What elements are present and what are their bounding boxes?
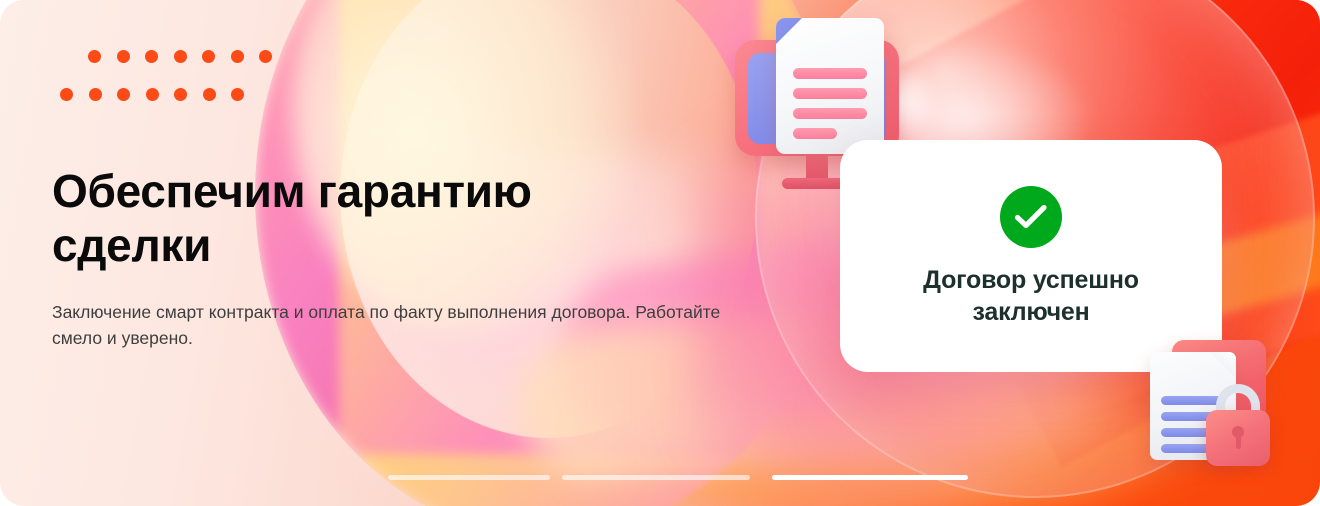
lock-keyhole-stem-icon bbox=[1236, 434, 1241, 449]
carousel-indicator-1[interactable] bbox=[388, 475, 550, 480]
decorative-dot bbox=[117, 50, 130, 63]
decorative-dot bbox=[203, 88, 216, 101]
decorative-dot bbox=[146, 88, 159, 101]
document-text-line bbox=[793, 68, 867, 79]
decorative-dot bbox=[145, 50, 158, 63]
decorative-dot bbox=[174, 88, 187, 101]
locked-document-illustration bbox=[1140, 334, 1280, 474]
promo-banner[interactable]: Обеспечим гарантию сделки Заключение сма… bbox=[0, 0, 1320, 506]
carousel-indicators[interactable] bbox=[388, 475, 948, 481]
document-text-line bbox=[793, 128, 837, 139]
check-circle-icon bbox=[1000, 186, 1062, 248]
decorative-dot bbox=[231, 50, 244, 63]
decorative-dot bbox=[88, 50, 101, 63]
banner-copy: Обеспечим гарантию сделки Заключение сма… bbox=[52, 165, 742, 351]
document-text-line bbox=[793, 108, 867, 119]
decorative-dot-grid bbox=[52, 50, 302, 106]
decorative-dot bbox=[60, 88, 73, 101]
banner-subtitle: Заключение смарт контракта и оплата по ф… bbox=[52, 299, 724, 352]
status-badge: Договор успешно заключен bbox=[862, 264, 1200, 328]
decorative-dot bbox=[117, 88, 130, 101]
carousel-indicator-2[interactable] bbox=[562, 475, 750, 480]
decorative-dot bbox=[259, 50, 272, 63]
decorative-dot bbox=[231, 88, 244, 101]
carousel-indicator-3[interactable] bbox=[772, 475, 968, 480]
decorative-dot bbox=[202, 50, 215, 63]
page-title: Обеспечим гарантию сделки bbox=[52, 165, 652, 273]
decorative-dot bbox=[89, 88, 102, 101]
decorative-dot bbox=[174, 50, 187, 63]
document-page bbox=[776, 18, 884, 154]
document-text-line bbox=[793, 88, 867, 99]
